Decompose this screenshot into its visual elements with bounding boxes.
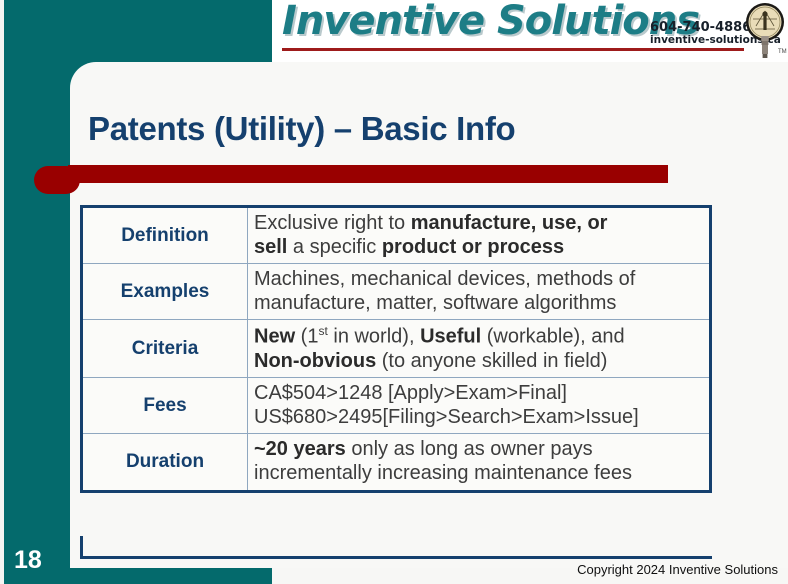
value-segment: CA$504>1248 [Apply>Exam>Final] [254, 382, 567, 404]
table-body: DefinitionExclusive right to manufacture… [82, 207, 711, 492]
value-line: New (1st in world), Useful (workable), a… [254, 324, 703, 349]
value-segment: US$680>2495[Filing>Search>Exam>Issue] [254, 406, 639, 428]
footer-divider [80, 556, 712, 559]
row-label: Duration [82, 434, 248, 491]
presentation-slide: Inventive Solutions 604-740-4886 inventi… [0, 0, 788, 584]
value-line: sell a specific product or process [254, 236, 703, 260]
row-value: CA$504>1248 [Apply>Exam>Final]US$680>249… [248, 378, 711, 434]
value-segment: (workable), and [481, 326, 624, 348]
value-line: ~20 years only as long as owner pays [254, 438, 703, 462]
value-line: incrementally increasing maintenance fee… [254, 462, 703, 486]
row-value: Exclusive right to manufacture, use, ors… [248, 207, 711, 264]
value-segment: product or process [382, 236, 564, 258]
value-segment: Machines, mechanical devices, methods of [254, 268, 635, 290]
value-segment: sell [254, 236, 287, 258]
logo-phone-number: 604-740-4886 [650, 20, 751, 35]
table-row: ExamplesMachines, mechanical devices, me… [82, 264, 711, 320]
row-label: Examples [82, 264, 248, 320]
row-value: ~20 years only as long as owner paysincr… [248, 434, 711, 491]
table-row: FeesCA$504>1248 [Apply>Exam>Final]US$680… [82, 378, 711, 434]
row-label: Fees [82, 378, 248, 434]
row-value: Machines, mechanical devices, methods of… [248, 264, 711, 320]
value-segment: Exclusive right to [254, 212, 411, 234]
value-segment: only as long as owner pays [346, 438, 593, 460]
value-segment: st [318, 324, 327, 338]
teal-top-band [4, 0, 272, 62]
trademark-mark: TM [778, 49, 787, 55]
table-row: Duration~20 years only as long as owner … [82, 434, 711, 491]
value-segment: ~20 years [254, 438, 346, 460]
page-title: Patents (Utility) – Basic Info [88, 110, 515, 148]
value-segment: Useful [420, 326, 481, 348]
logo-banner: Inventive Solutions 604-740-4886 inventi… [272, 0, 788, 62]
page-number: 18 [14, 546, 42, 575]
value-segment: New [254, 326, 295, 348]
value-segment: manufacture, use, or [411, 212, 608, 234]
value-line: CA$504>1248 [Apply>Exam>Final] [254, 382, 703, 406]
logo-underline-rule [282, 48, 744, 51]
footer-tick-mark [80, 536, 83, 556]
value-line: manufacture, matter, software algorithms [254, 292, 703, 316]
value-line: Non-obvious (to anyone skilled in field) [254, 350, 703, 374]
value-segment: (to anyone skilled in field) [376, 350, 607, 372]
row-value: New (1st in world), Useful (workable), a… [248, 320, 711, 378]
value-line: Exclusive right to manufacture, use, or [254, 212, 703, 236]
row-label: Definition [82, 207, 248, 264]
table-row: DefinitionExclusive right to manufacture… [82, 207, 711, 264]
red-accent-bar [68, 165, 668, 183]
value-line: US$680>2495[Filing>Search>Exam>Issue] [254, 406, 703, 430]
value-segment: in world), [328, 326, 420, 348]
value-segment: Non-obvious [254, 350, 376, 372]
value-line: Machines, mechanical devices, methods of [254, 268, 703, 292]
patent-info-table: DefinitionExclusive right to manufacture… [80, 205, 712, 493]
copyright-notice: Copyright 2024 Inventive Solutions [577, 562, 778, 577]
table-row: CriteriaNew (1st in world), Useful (work… [82, 320, 711, 378]
company-wordmark: Inventive Solutions [282, 0, 699, 44]
row-label: Criteria [82, 320, 248, 378]
value-segment: manufacture, matter, software algorithms [254, 292, 616, 314]
value-segment: (1 [295, 326, 318, 348]
value-segment: incrementally increasing maintenance fee… [254, 462, 632, 484]
value-segment: a specific [287, 236, 381, 258]
